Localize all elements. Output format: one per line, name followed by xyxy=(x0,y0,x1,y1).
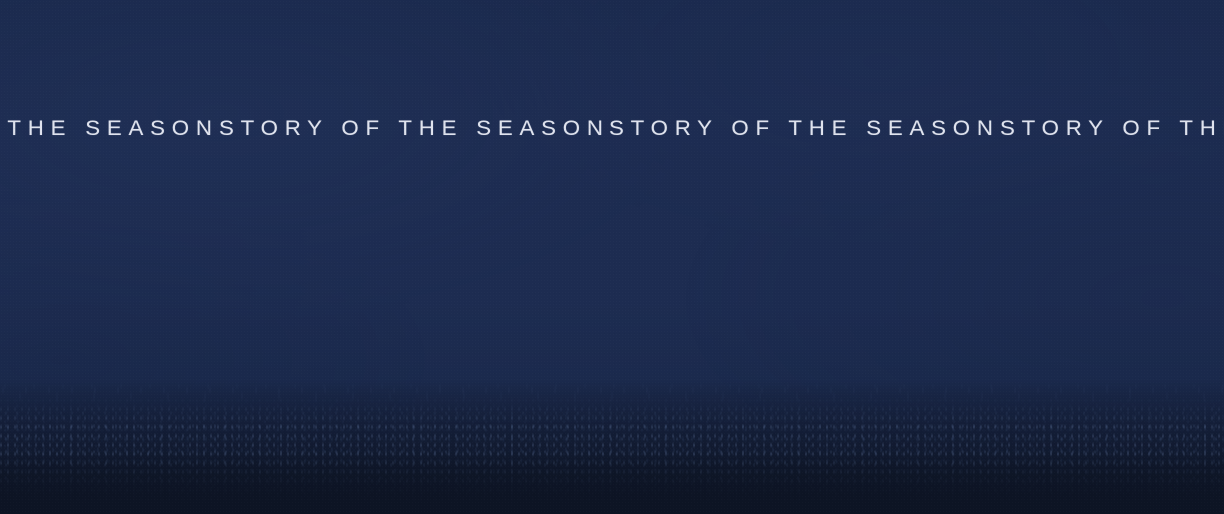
marquee-band: STORY OF THE SEASON STORY OF THE SEASON … xyxy=(0,110,1224,146)
grass-bottom-shadow xyxy=(0,454,1224,514)
grass-field xyxy=(0,379,1224,514)
marquee-text-item: STORY OF THE SEASON xyxy=(0,118,242,139)
marquee-text-item: STORY OF THE SEASON xyxy=(609,118,1023,139)
title-card-scene: STORY OF THE SEASON STORY OF THE SEASON … xyxy=(0,0,1224,514)
marquee-track: STORY OF THE SEASON STORY OF THE SEASON … xyxy=(0,118,1224,139)
marquee-text-item: STORY OF THE SEASON xyxy=(1000,118,1224,139)
marquee-text-item: STORY OF THE SEASON xyxy=(219,118,633,139)
